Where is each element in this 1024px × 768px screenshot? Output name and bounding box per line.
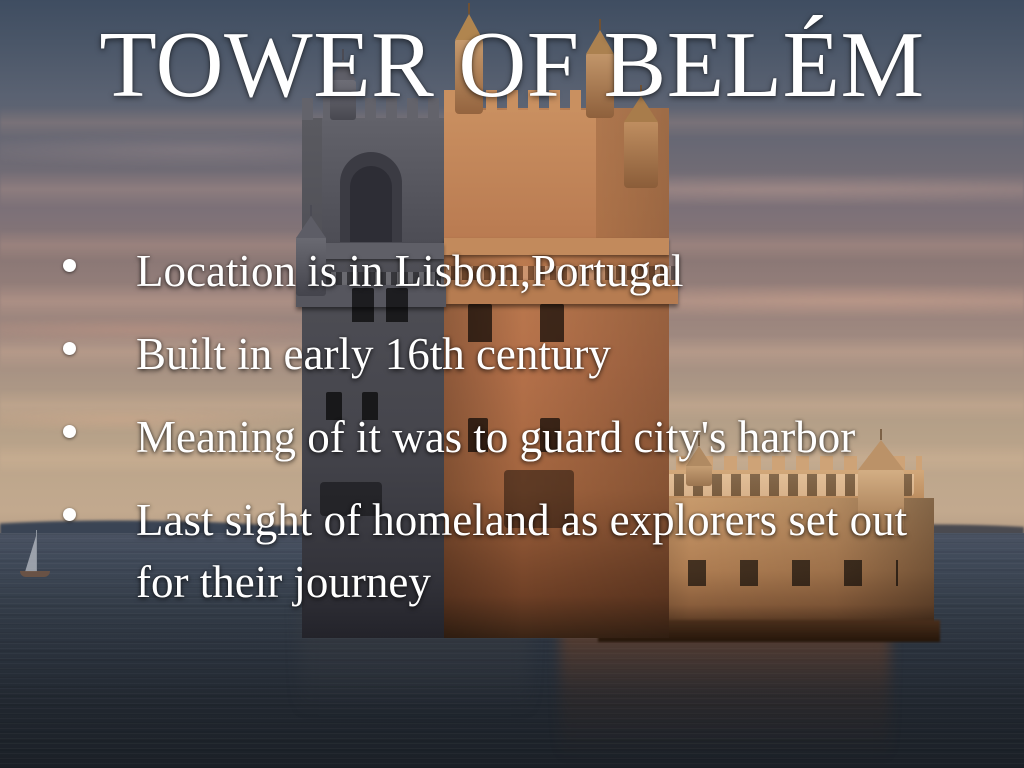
list-item-label: Location is in Lisbon,Portugal xyxy=(136,240,952,302)
page-title: TOWER OF BELÉM xyxy=(0,18,1024,112)
turret-cone xyxy=(296,216,326,238)
turret-finial xyxy=(310,205,312,216)
list-item-label: Last sight of homeland as explorers set … xyxy=(136,489,952,613)
list-item-label: Built in early 16th century xyxy=(136,323,952,385)
bullet-list: Location is in Lisbon,Portugal Built in … xyxy=(52,240,952,634)
bullet-point-icon xyxy=(52,240,136,272)
presentation-slide: TOWER OF BELÉM Location is in Lisbon,Por… xyxy=(0,0,1024,768)
keep-niche-inner xyxy=(350,166,392,242)
keep-upper-stage-sunlit xyxy=(444,110,596,248)
list-item-label: Meaning of it was to guard city's harbor xyxy=(136,406,952,468)
sailboat-sail xyxy=(25,536,36,572)
bullet-point-icon xyxy=(52,323,136,355)
list-item: Built in early 16th century xyxy=(52,323,952,385)
bullet-point-icon xyxy=(52,406,136,438)
list-item: Last sight of homeland as explorers set … xyxy=(52,489,952,613)
sailboat-mast xyxy=(36,530,37,572)
list-item: Location is in Lisbon,Portugal xyxy=(52,240,952,302)
list-item: Meaning of it was to guard city's harbor xyxy=(52,406,952,468)
bullet-point-icon xyxy=(52,489,136,521)
turret-body xyxy=(624,120,658,188)
sailboat-hull xyxy=(20,571,50,577)
